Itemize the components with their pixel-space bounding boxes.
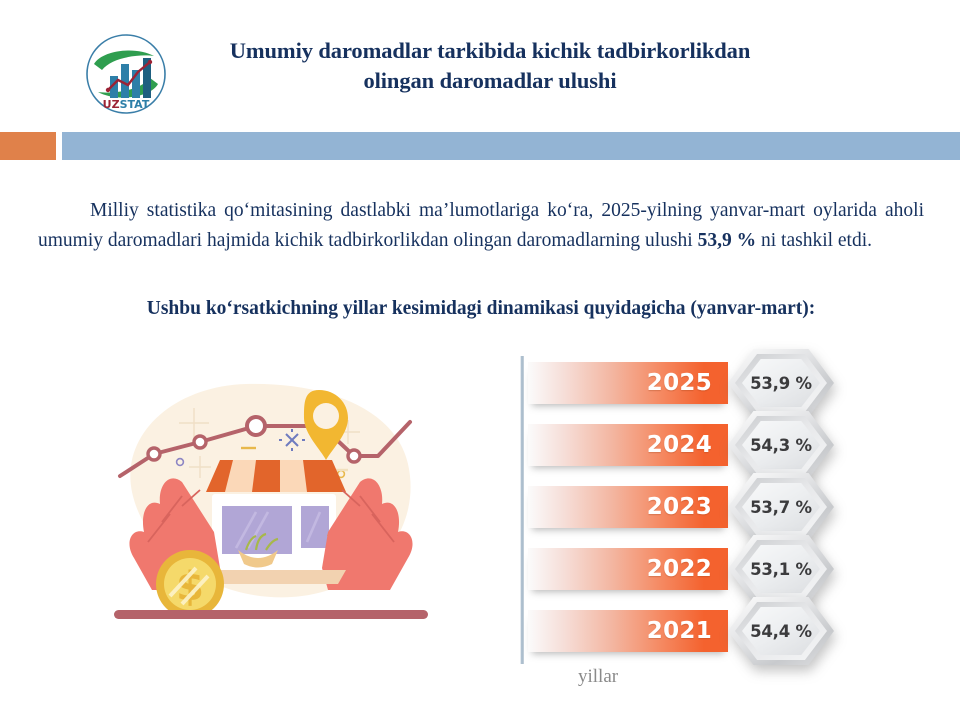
value-badge-2023: 53,7 % (728, 473, 834, 541)
table-row[interactable]: 2025 53,9 % (524, 362, 820, 404)
hands-holding-small-shop-illustration: $ (96, 372, 446, 634)
bar-2021: 2021 (528, 610, 728, 652)
value-badge-2022: 53,1 % (728, 535, 834, 603)
divider-bar-blue (62, 132, 960, 160)
table-row[interactable]: 2024 54,3 % (524, 424, 820, 466)
value-badge-2024: 54,3 % (728, 411, 834, 479)
bar-2024: 2024 (528, 424, 728, 466)
body-paragraph: Milliy statistika qo‘mitasining dastlabk… (38, 196, 924, 256)
page-title: Umumiy daromadlar tarkibida kichik tadbi… (200, 36, 780, 96)
bar-value-label: 54,3 % (728, 411, 834, 479)
bar-category-label: 2021 (647, 618, 712, 644)
svg-text:UZSTAT: UZSTAT (103, 98, 150, 111)
bar-category-label: 2022 (647, 556, 712, 582)
axis-label-yillar: yillar (578, 666, 618, 688)
bar-2025: 2025 (528, 362, 728, 404)
paragraph-highlight-value: 53,9 % (698, 230, 757, 251)
uzstat-logo: UZSTAT (84, 32, 168, 116)
bar-category-label: 2025 (647, 370, 712, 396)
bar-value-label: 53,7 % (728, 473, 834, 541)
bar-category-label: 2023 (647, 494, 712, 520)
page-header: UZSTAT Umumiy daromadlar tarkibida kichi… (0, 0, 960, 122)
divider-accent-orange (0, 132, 56, 160)
paragraph-text-tail: ni tashkil etdi. (756, 230, 872, 251)
bar-2023: 2023 (528, 486, 728, 528)
bar-2022: 2022 (528, 548, 728, 590)
bar-value-label: 53,1 % (728, 535, 834, 603)
divider (0, 132, 960, 160)
bar-value-label: 53,9 % (728, 349, 834, 417)
table-row[interactable]: 2023 53,7 % (524, 486, 820, 528)
value-badge-2021: 54,4 % (728, 597, 834, 665)
bar-category-label: 2024 (647, 432, 712, 458)
chart-subtitle: Ushbu ko‘rsatkichning yillar kesimidagi … (38, 296, 924, 322)
table-row[interactable]: 2022 53,1 % (524, 548, 820, 590)
bar-value-label: 54,4 % (728, 597, 834, 665)
table-row[interactable]: 2021 54,4 % (524, 610, 820, 652)
value-badge-2025: 53,9 % (728, 349, 834, 417)
bar-chart: 2025 53,9 % 2024 54,3 % 2023 53,7 % (500, 348, 840, 688)
